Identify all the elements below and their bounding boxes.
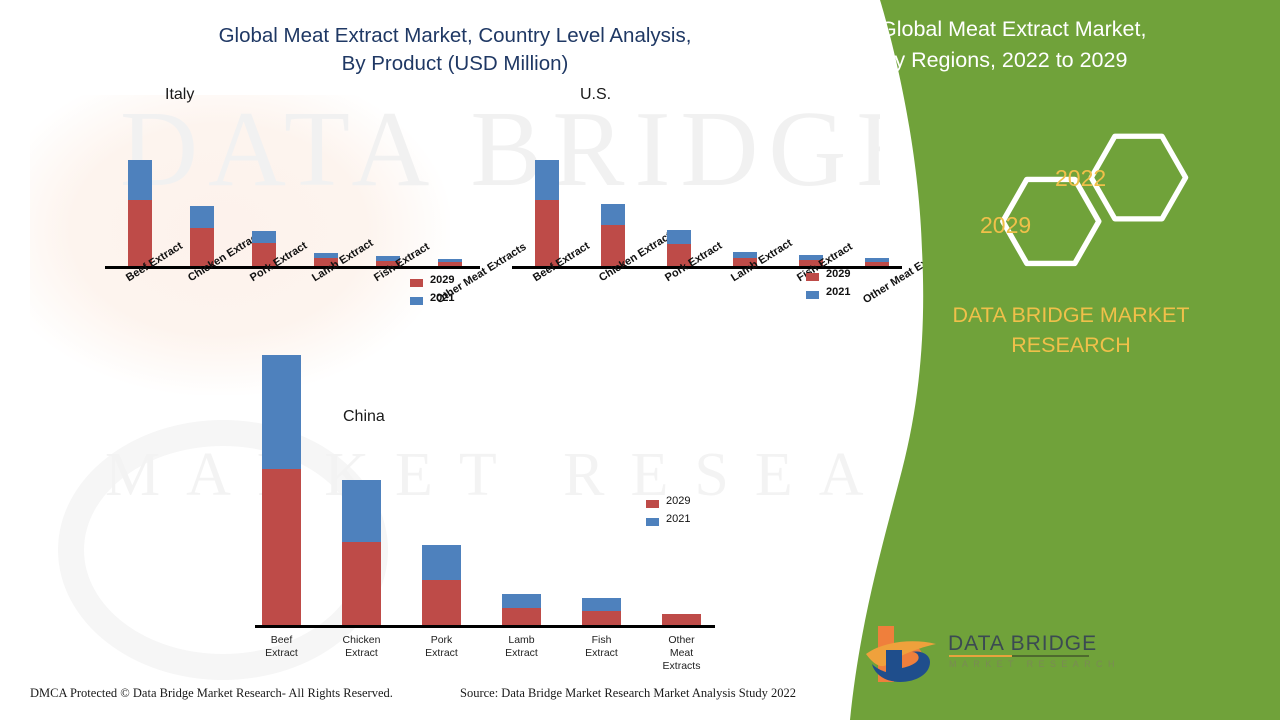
bar-segment-2029 xyxy=(422,580,461,625)
bar-segment-2021 xyxy=(128,160,152,200)
bar-segment-2021 xyxy=(667,230,691,243)
bar-segment-2021 xyxy=(601,204,625,224)
bar-beef-extract[interactable] xyxy=(535,160,559,266)
x-axis-label: PorkExtract xyxy=(407,634,477,660)
bar-segment-2021 xyxy=(502,594,541,608)
x-axis-label: OtherMeatExtracts xyxy=(647,634,717,673)
legend-swatch-2021 xyxy=(410,297,423,305)
bar-segment-2029 xyxy=(582,611,621,625)
legend-label-2021: 2021 xyxy=(666,513,690,525)
page-title-line1: Global Meat Extract Market, Country Leve… xyxy=(219,24,692,47)
x-axis-label: BeefExtract xyxy=(247,634,317,660)
bar-segment-2029 xyxy=(342,542,381,625)
logo-subtext: MARKET RESEARCH xyxy=(949,659,1120,669)
chart-title-us: U.S. xyxy=(580,86,611,104)
bar-segment-2029 xyxy=(662,614,701,625)
bar-segment-2021 xyxy=(535,160,559,200)
chart-title-china: China xyxy=(343,408,385,426)
bar-fish-extract[interactable] xyxy=(582,598,621,625)
bar-segment-2029 xyxy=(262,469,301,625)
data-bridge-logo: DATA BRIDGE MARKET RESEARCH xyxy=(860,618,1090,698)
page-title: Global Meat Extract Market, Country Leve… xyxy=(60,22,850,78)
hexagon-group: 2029 2022 xyxy=(840,130,1280,290)
chart-us: U.S. Beef ExtractChicken ExtractPork Ext… xyxy=(440,80,900,380)
legend-label-2029: 2029 xyxy=(666,495,690,507)
bar-chicken-extract[interactable] xyxy=(342,480,381,625)
logo-divider xyxy=(949,655,1089,657)
hexagon-svg xyxy=(840,130,1280,290)
legend-swatch-2029 xyxy=(646,500,659,508)
bar-beef-extract[interactable] xyxy=(128,160,152,266)
bar-segment-2021 xyxy=(262,355,301,469)
logo-mark-icon xyxy=(860,618,950,690)
bar-segment-2029 xyxy=(502,608,541,625)
hexagon-2022-label: 2022 xyxy=(1055,165,1106,192)
page-title-line2: By Product (USD Million) xyxy=(342,52,569,75)
legend-swatch-2029 xyxy=(410,279,423,287)
plot-area-us: Beef ExtractChicken ExtractPork ExtractL… xyxy=(440,110,900,370)
x-axis-label: FishExtract xyxy=(567,634,637,660)
brand-line2: RESEARCH xyxy=(1011,333,1130,357)
bar-beef-extract[interactable] xyxy=(262,355,301,625)
bar-segment-2021 xyxy=(422,545,461,579)
bar-segment-2021 xyxy=(252,231,276,243)
brand-line1: DATA BRIDGE MARKET xyxy=(953,303,1190,327)
chart-china: China BeefExtractChickenExtractPorkExtra… xyxy=(230,405,740,685)
bar-chicken-extract[interactable] xyxy=(601,204,625,266)
green-side-panel: Global Meat Extract Market, By Regions, … xyxy=(840,0,1280,720)
footer-source: Source: Data Bridge Market Research Mark… xyxy=(460,686,796,701)
legend-swatch-2021 xyxy=(646,518,659,526)
bar-other-meat-extracts[interactable] xyxy=(662,614,701,625)
bar-chicken-extract[interactable] xyxy=(190,206,214,266)
green-panel-title-line1: Global Meat Extract Market, xyxy=(880,17,1146,41)
plot-area-italy: Beef ExtractChicken ExtractPork ExtractL… xyxy=(20,110,480,370)
bar-lamb-extract[interactable] xyxy=(502,594,541,625)
bar-segment-2029 xyxy=(535,200,559,266)
bar-segment-2021 xyxy=(582,598,621,610)
bar-pork-extract[interactable] xyxy=(422,545,461,625)
bar-segment-2021 xyxy=(342,480,381,542)
legend-swatch-2029 xyxy=(806,273,819,281)
green-panel-title-line2: By Regions, 2022 to 2029 xyxy=(880,45,1280,76)
bar-segment-2021 xyxy=(190,206,214,227)
chart-italy: Italy Beef ExtractChicken ExtractPork Ex… xyxy=(20,80,480,380)
footer-dmca: DMCA Protected © Data Bridge Market Rese… xyxy=(30,686,393,701)
legend-swatch-2021 xyxy=(806,291,819,299)
chart-title-italy: Italy xyxy=(165,86,194,104)
hexagon-2029-label: 2029 xyxy=(980,212,1031,239)
green-panel-brand: DATA BRIDGE MARKET RESEARCH xyxy=(840,300,1280,360)
x-axis-label: LambExtract xyxy=(487,634,557,660)
bar-segment-2029 xyxy=(128,200,152,266)
x-axis-label: ChickenExtract xyxy=(327,634,397,660)
green-panel-shape xyxy=(840,0,1280,720)
x-axis-line xyxy=(255,625,715,628)
green-panel-title: Global Meat Extract Market, By Regions, … xyxy=(840,0,1280,76)
x-axis-line xyxy=(105,266,480,269)
logo-text: DATA BRIDGE xyxy=(948,632,1097,656)
plot-area-china: BeefExtractChickenExtractPorkExtractLamb… xyxy=(230,430,740,680)
